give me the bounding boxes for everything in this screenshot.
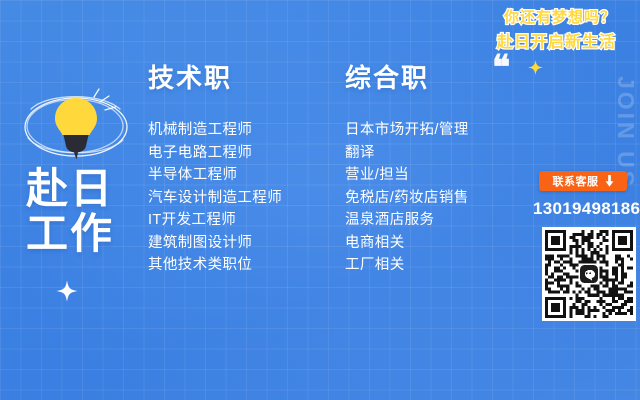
list-item: 翻译 <box>345 142 469 165</box>
contact-support-button[interactable]: 联系客服 <box>539 171 627 191</box>
list-item: 机械制造工程师 <box>148 119 282 142</box>
list-item: 电商相关 <box>345 232 469 255</box>
list-item: 日本市场开拓/管理 <box>345 119 469 142</box>
list-item: 温泉酒店服务 <box>345 209 469 232</box>
sparkle-icon-yellow <box>528 60 543 75</box>
column-general-heading: 综合职 <box>345 58 469 95</box>
arrow-down-icon <box>605 175 614 187</box>
list-item: 工厂相关 <box>345 254 469 277</box>
quote-mark-icon: ❝ <box>492 52 510 86</box>
phone-number: 13019498186 <box>533 199 640 219</box>
poster-canvas: 你还有梦想吗？ 赴日开启新生活 ❝ JOIN US <box>0 0 640 400</box>
headline-line-1: 你还有梦想吗？ <box>504 6 616 27</box>
page-title: 赴日 工作 <box>26 166 114 257</box>
qr-code-icon[interactable] <box>542 227 636 321</box>
sparkle-icon-white <box>56 280 78 302</box>
contact-support-label: 联系客服 <box>553 173 599 189</box>
headline-line-1-text: 你还有梦想吗？ <box>504 6 616 27</box>
list-item: 半导体工程师 <box>148 164 282 187</box>
list-item: 建筑制图设计师 <box>148 232 282 255</box>
list-item: IT开发工程师 <box>148 209 282 232</box>
page-title-line-2: 工作 <box>26 211 114 256</box>
column-tech-heading: 技术职 <box>148 58 282 95</box>
column-general-list: 日本市场开拓/管理 翻译 营业/担当 免税店/药妆店销售 温泉酒店服务 电商相关… <box>345 119 469 277</box>
column-tech-list: 机械制造工程师 电子电路工程师 半导体工程师 汽车设计制造工程师 IT开发工程师… <box>148 119 282 277</box>
column-general: 综合职 日本市场开拓/管理 翻译 营业/担当 免税店/药妆店销售 温泉酒店服务 … <box>345 58 469 277</box>
headline-line-2: 赴日开启新生活 <box>497 28 616 52</box>
list-item: 免税店/药妆店销售 <box>345 187 469 210</box>
column-tech: 技术职 机械制造工程师 电子电路工程师 半导体工程师 汽车设计制造工程师 IT开… <box>148 58 282 277</box>
list-item: 电子电路工程师 <box>148 142 282 165</box>
lightbulb-icon <box>16 82 136 168</box>
headline-line-2-text: 赴日开启新生活 <box>497 28 616 52</box>
page-title-line-1: 赴日 <box>26 166 114 211</box>
list-item: 其他技术类职位 <box>148 254 282 277</box>
list-item: 汽车设计制造工程师 <box>148 187 282 210</box>
list-item: 营业/担当 <box>345 164 469 187</box>
